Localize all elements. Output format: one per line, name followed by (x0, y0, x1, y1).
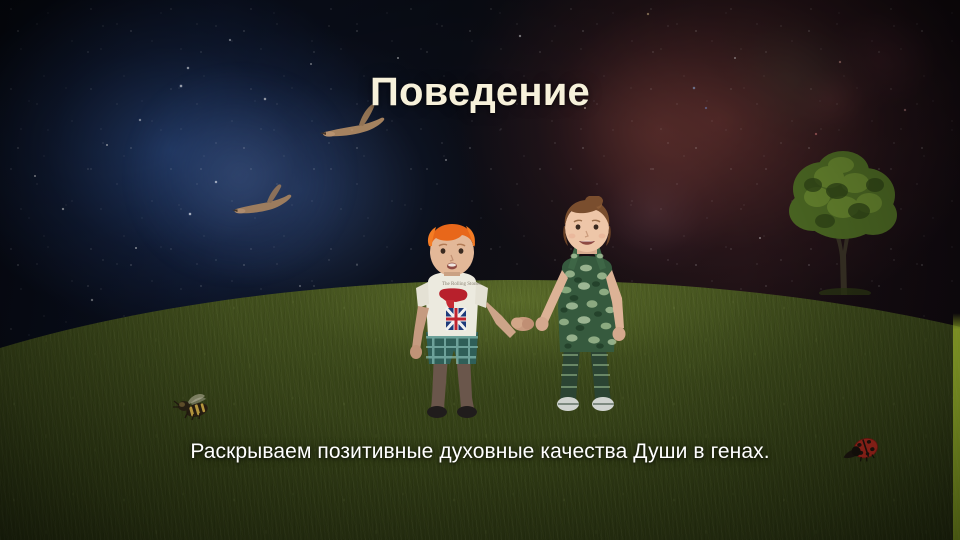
child-girl (528, 196, 648, 422)
slide-subtitle: Раскрываем позитивные духовные качества … (0, 440, 960, 464)
bird-flying-lower-icon (228, 183, 294, 225)
svg-text:The Rolling Stones: The Rolling Stones (442, 282, 481, 287)
presentation-slide: The Rolling Stones (0, 0, 960, 540)
tree-icon (783, 145, 903, 295)
bee-icon (172, 392, 216, 422)
slide-title: Поведение (0, 70, 960, 115)
joined-hands (500, 312, 546, 336)
